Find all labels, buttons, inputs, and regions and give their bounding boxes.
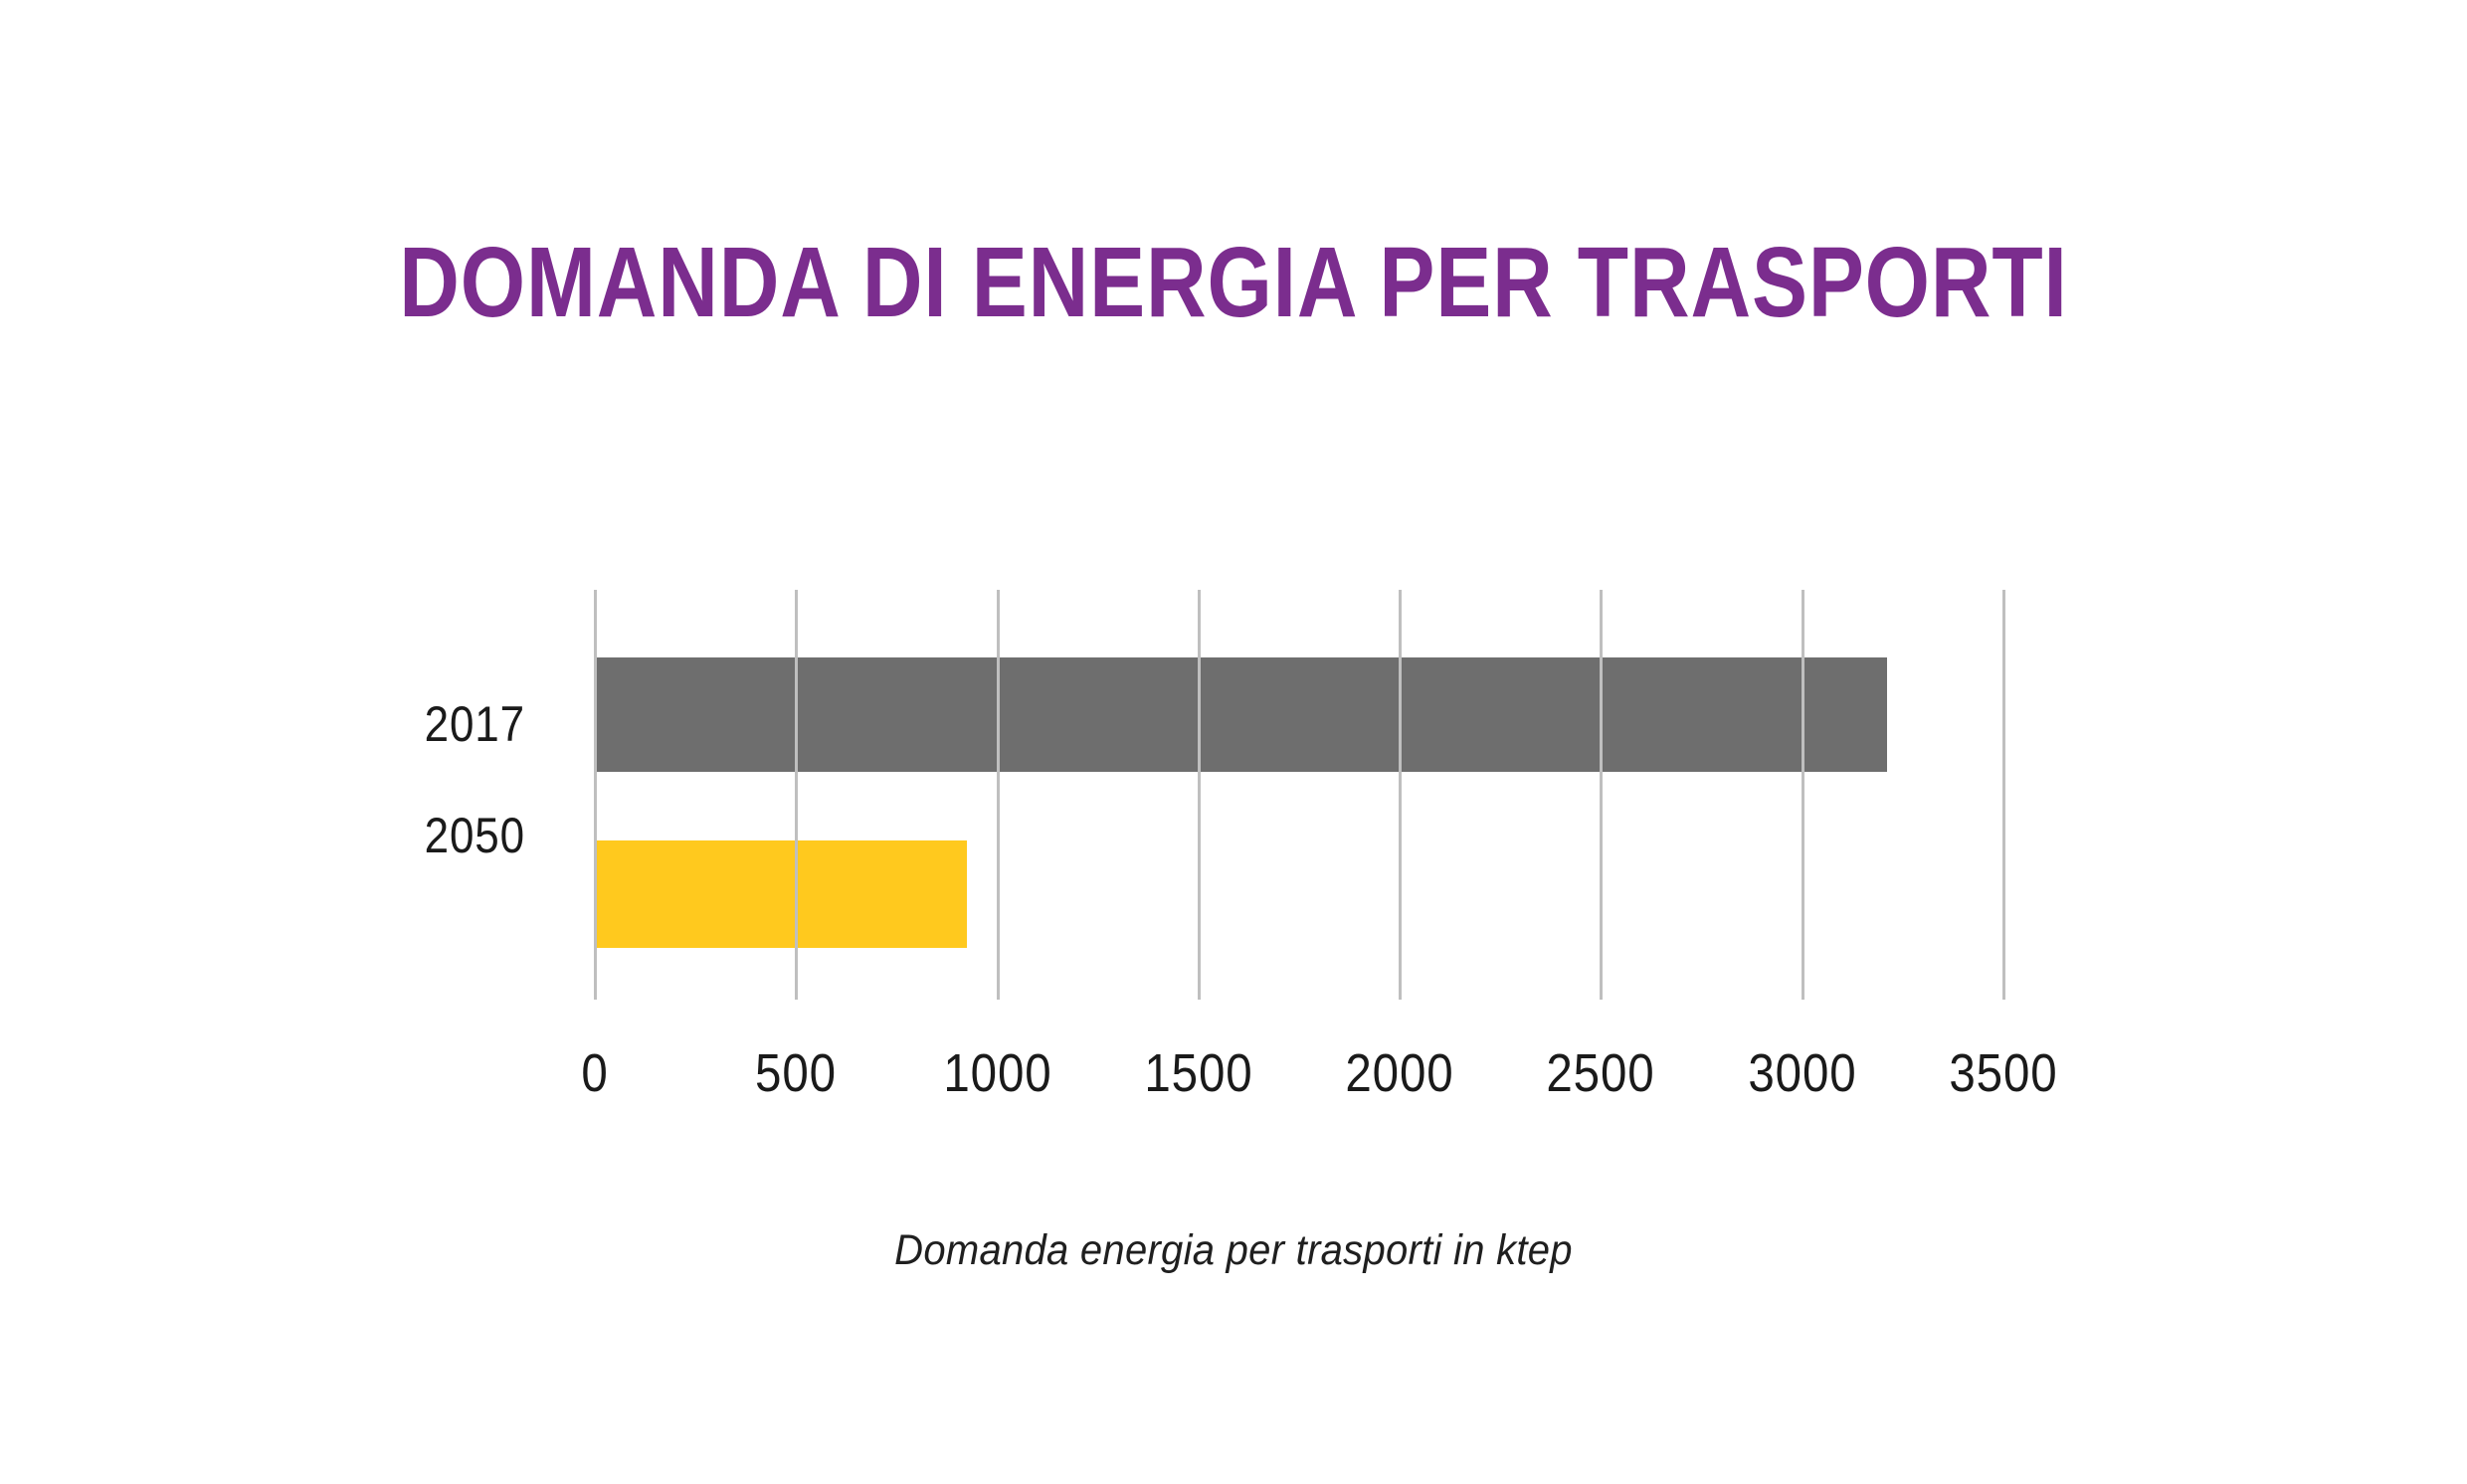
gridline-3000 bbox=[1802, 590, 1804, 1000]
category-label-2050: 2050 bbox=[263, 811, 525, 860]
xtick-label-0: 0 bbox=[481, 1044, 709, 1102]
gridline-0 bbox=[594, 590, 597, 1000]
xtick-label-3500: 3500 bbox=[1890, 1044, 2118, 1102]
chart-caption: Domanda energia per trasporti in ktep bbox=[87, 1225, 2380, 1275]
xtick-label-500: 500 bbox=[682, 1044, 910, 1102]
xtick-label-1500: 1500 bbox=[1084, 1044, 1312, 1102]
gridline-2000 bbox=[1399, 590, 1402, 1000]
gridline-1000 bbox=[997, 590, 1000, 1000]
gridline-3500 bbox=[2002, 590, 2005, 1000]
bar-2017 bbox=[595, 657, 1887, 772]
xtick-label-2500: 2500 bbox=[1487, 1044, 1715, 1102]
category-label-2017: 2017 bbox=[263, 699, 525, 749]
gridline-500 bbox=[795, 590, 798, 1000]
xtick-label-3000: 3000 bbox=[1688, 1044, 1916, 1102]
gridline-1500 bbox=[1198, 590, 1201, 1000]
bar-2050 bbox=[595, 840, 967, 948]
xtick-label-2000: 2000 bbox=[1286, 1044, 1514, 1102]
gridline-2500 bbox=[1600, 590, 1603, 1000]
xtick-label-1000: 1000 bbox=[883, 1044, 1111, 1102]
plot-area bbox=[595, 590, 2003, 1000]
chart-title: DOMANDA DI ENERGIA PER TRASPORTI bbox=[197, 231, 2269, 334]
